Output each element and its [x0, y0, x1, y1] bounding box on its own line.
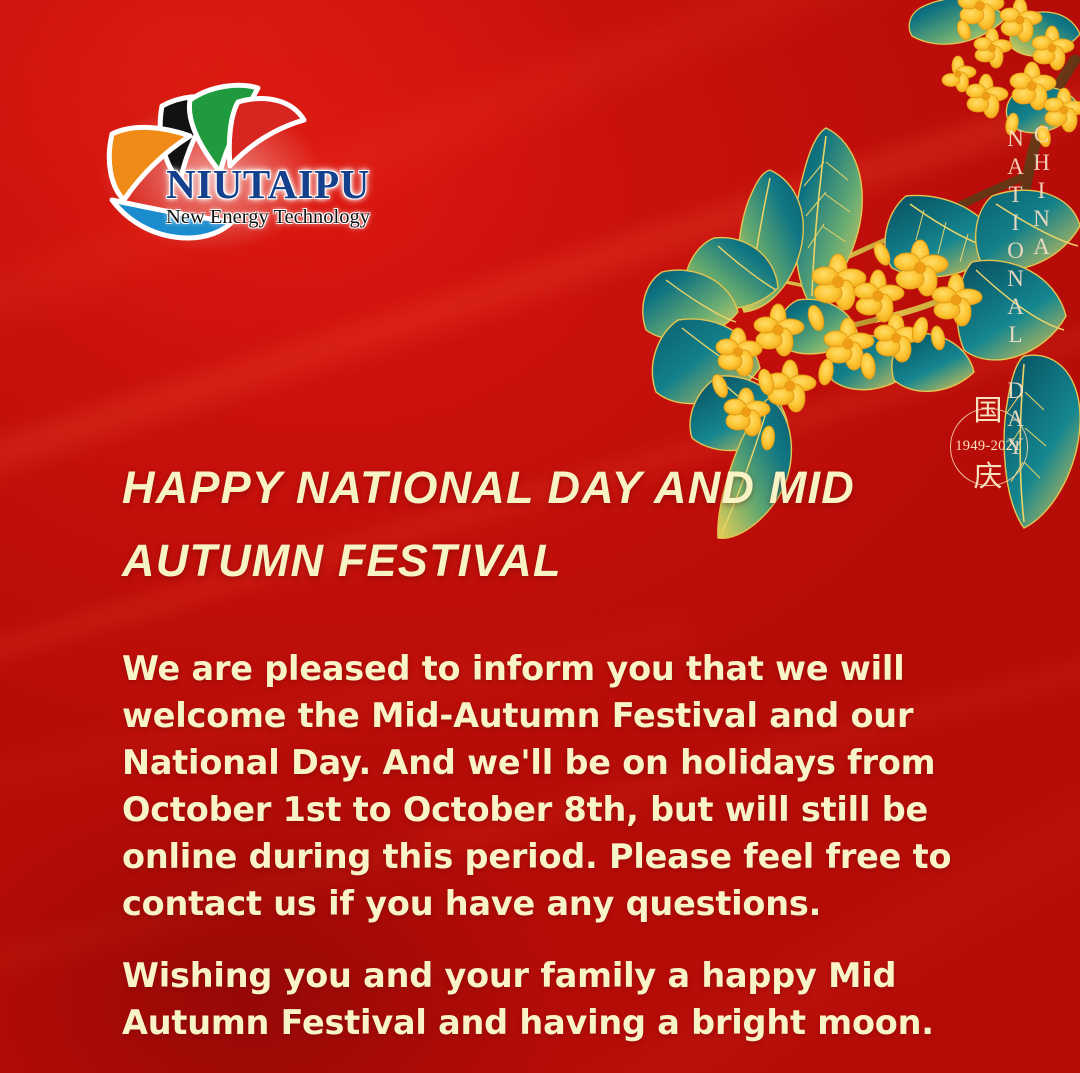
logo-brand-name: NIUTAIPU: [165, 164, 371, 205]
announcement-paragraph-2: Wishing you and your family a happy Mid …: [122, 952, 1012, 1046]
seal-years: 1949-2021: [944, 438, 1032, 455]
logo-tagline: New Energy Technology: [165, 207, 371, 228]
announcement-body: We are pleased to inform you that we wil…: [122, 645, 1012, 1046]
seal-char-guo: 国: [944, 396, 1032, 425]
announcement-paragraph-1: We are pleased to inform you that we wil…: [122, 645, 1012, 927]
greeting-poster: CHINA NATIONAL DAY 国 1949-2021 庆 NIUTAIP…: [0, 0, 1080, 1073]
logo-wordmark: NIUTAIPU New Energy Technology: [165, 164, 371, 228]
logo-petal-red: [229, 99, 304, 166]
page-title: HAPPY NATIONAL DAY AND MID AUTUMN FESTIV…: [122, 452, 922, 598]
national-day-seal: 国 1949-2021 庆: [944, 400, 1032, 496]
seal-char-qing: 庆: [944, 462, 1032, 491]
company-logo: NIUTAIPU New Energy Technology: [92, 82, 374, 270]
vertical-text-china: CHINA: [1028, 122, 1054, 262]
